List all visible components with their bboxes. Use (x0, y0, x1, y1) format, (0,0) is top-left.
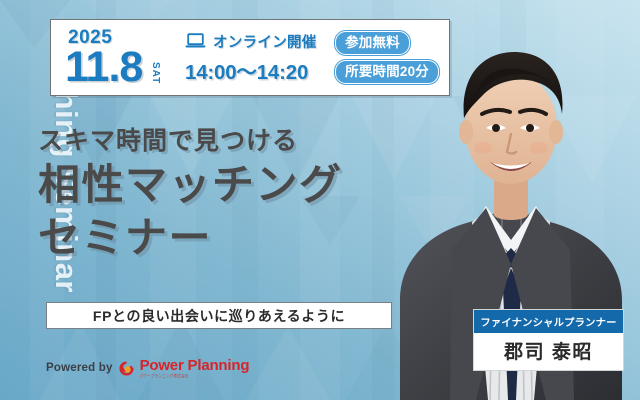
powered-by-label: Powered by (46, 362, 113, 374)
headline-block: スキマ時間で見つける 相性マッチング セミナー (38, 128, 343, 263)
catch-copy-text: FPとの良い出会いに巡りあえるように (93, 306, 345, 326)
presenter-nameplate: ファイナンシャルプランナー 郡司 泰昭 (473, 309, 624, 371)
event-details: オンライン開催 14:00〜14:20 (185, 31, 317, 85)
event-time: 14:00〜14:20 (185, 55, 317, 85)
powered-by-block: Powered by Power Planning パワープランニング株式会社 (46, 358, 249, 378)
event-day-row: 11.8 SAT (65, 48, 183, 88)
presenter-name: 郡司 泰昭 (474, 333, 623, 370)
event-day-of-week: SAT (150, 62, 160, 84)
catch-copy-bar: FPとの良い出会いに巡りあえるように (46, 302, 392, 329)
headline-line-2: セミナー (38, 213, 343, 263)
power-planning-swirl-icon (119, 361, 134, 376)
online-label: オンライン開催 (213, 31, 317, 52)
badge-duration: 所要時間20分 (335, 60, 439, 84)
presenter-role: ファイナンシャルプランナー (474, 310, 623, 333)
seminar-poster: Matching Seminar 2025 11.8 SAT オンライン開催 1… (0, 0, 640, 400)
event-date: 11.8 (65, 48, 142, 88)
date-banner: 2025 11.8 SAT オンライン開催 14:00〜14:20 参加無料 所… (50, 19, 450, 96)
badge-group: 参加無料 所要時間20分 (335, 31, 439, 83)
brand-name: Power Planning (140, 358, 250, 373)
headline-subtitle: スキマ時間で見つける (38, 128, 343, 156)
brand-name-jp: パワープランニング株式会社 (140, 375, 250, 379)
online-row: オンライン開催 (185, 31, 317, 52)
badge-free: 参加無料 (335, 31, 410, 55)
brand-lockup: Power Planning パワープランニング株式会社 (140, 358, 250, 378)
laptop-icon (185, 33, 206, 49)
headline-line-1: 相性マッチング (38, 160, 343, 210)
date-block: 2025 11.8 SAT (65, 28, 183, 88)
